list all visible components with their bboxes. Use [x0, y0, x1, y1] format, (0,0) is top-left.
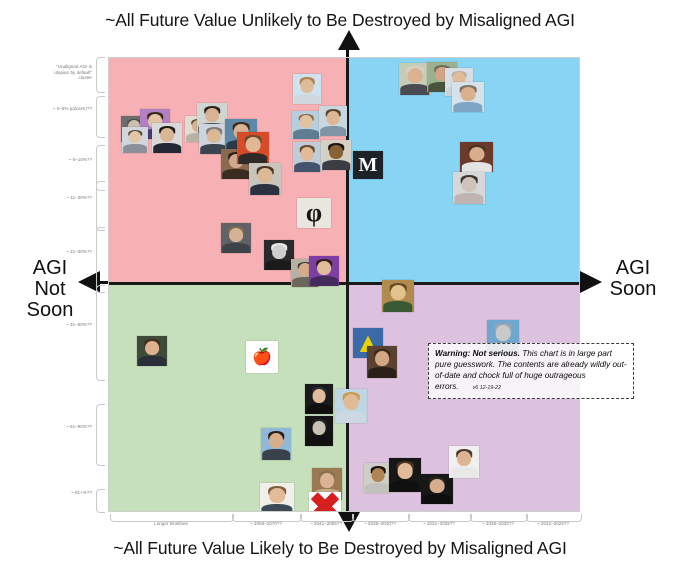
portrait-shoulders	[422, 494, 451, 504]
portrait-face	[207, 129, 221, 143]
data-point-portrait	[261, 428, 291, 460]
x-axis-tick-label: ~ 2022–2025??	[526, 521, 580, 527]
data-point-portrait	[221, 223, 251, 253]
y-axis-brace	[96, 489, 105, 513]
data-point-portrait	[293, 74, 321, 104]
axis-label-left-line3: Soon	[6, 300, 94, 321]
portrait-face	[300, 115, 313, 128]
portrait-shoulders	[400, 84, 429, 95]
y-axis-tick-label: ~ 91+%??	[36, 490, 92, 496]
portrait-face	[272, 245, 286, 259]
portrait-face	[129, 131, 141, 143]
portrait-shoulders	[450, 467, 478, 478]
chart-title-bottom: ~All Future Value Likely to Be Destroyed…	[0, 538, 680, 559]
y-axis-tick-label: ~ 11–20%??	[36, 195, 92, 201]
axis-stem-right	[578, 281, 592, 284]
x-axis-tick-label: ~ 2041–2055??	[300, 521, 352, 527]
data-point-portrait	[249, 163, 281, 195]
portrait-shoulders	[454, 193, 483, 204]
y-axis-tick-label: ~ 31–60%??	[36, 322, 92, 328]
plot-area: φM🍎✖▲✦	[108, 57, 580, 512]
axis-arrow-up-icon	[338, 30, 360, 50]
portrait-face	[269, 488, 285, 503]
data-point-portrait	[382, 280, 414, 312]
warning-bold-lead: Warning: Not serious.	[435, 349, 520, 358]
portrait-shoulders	[336, 411, 365, 423]
portrait-face	[375, 351, 389, 366]
portrait-face	[496, 325, 511, 341]
portrait-shoulders	[138, 356, 166, 366]
data-point-portrait	[292, 111, 320, 139]
y-axis-brace	[96, 227, 105, 293]
portrait-shoulders	[322, 160, 350, 170]
chart-title-top: ~All Future Value Unlikely to Be Destroy…	[0, 10, 680, 31]
portrait-face	[246, 137, 261, 152]
portrait-shoulders	[306, 436, 332, 446]
data-point-portrait	[305, 416, 333, 446]
data-point-portrait	[305, 384, 333, 414]
portrait-shoulders	[294, 162, 320, 172]
data-point-portrait	[460, 142, 493, 172]
portrait-face	[258, 168, 273, 183]
data-point-portrait	[152, 123, 182, 153]
data-point-portrait	[449, 446, 479, 478]
data-point-glyph-xmark: ✖	[309, 492, 341, 512]
y-axis-tick-label: ~ 21–30%??	[36, 249, 92, 255]
data-point-glyph-apple: 🍎	[246, 341, 278, 373]
data-point-portrait	[335, 389, 367, 423]
y-axis-brace	[96, 96, 105, 138]
chart-canvas: ~All Future Value Unlikely to Be Destroy…	[0, 0, 680, 568]
warning-disclaimer-box: Warning: Not serious. This chart is in l…	[428, 343, 634, 399]
portrait-shoulders	[461, 162, 491, 172]
portrait-face	[317, 261, 331, 275]
y-axis-tick-label: ~ 6–10%??	[36, 157, 92, 163]
axis-label-right-line2: Soon	[590, 279, 676, 300]
portrait-face	[205, 108, 219, 122]
x-axis-tick-label: ~ 2026–2030??	[470, 521, 526, 527]
data-point-portrait	[367, 346, 397, 378]
portrait-face	[229, 228, 243, 242]
y-axis-brace	[96, 181, 105, 231]
portrait-shoulders	[306, 404, 332, 414]
portrait-face	[398, 463, 413, 479]
portrait-face	[329, 145, 343, 159]
warning-version-stamp: v6 12-19-22	[473, 385, 501, 391]
portrait-face	[461, 87, 476, 101]
data-point-portrait	[389, 458, 421, 492]
portrait-face	[469, 147, 484, 161]
portrait-face	[160, 128, 174, 142]
portrait-face	[269, 433, 283, 448]
horizontal-axis-line	[109, 282, 580, 285]
portrait-shoulders	[453, 102, 482, 112]
data-point-portrait	[321, 140, 351, 170]
portrait-shoulders	[365, 483, 391, 493]
portrait-face	[408, 68, 423, 83]
portrait-face	[301, 147, 314, 161]
data-point-portrait	[293, 142, 321, 172]
x-axis-tick-label: ~ 2058–2070??	[232, 521, 300, 527]
y-axis-tick-label: ~ 61–90%??	[36, 424, 92, 430]
portrait-shoulders	[320, 126, 346, 136]
portrait-face	[391, 285, 406, 300]
data-point-portrait	[421, 474, 453, 504]
portrait-shoulders	[368, 367, 396, 378]
data-point-portrait	[264, 240, 294, 270]
data-point-portrait	[452, 82, 484, 112]
portrait-shoulders	[261, 504, 292, 512]
portrait-shoulders	[222, 169, 250, 179]
data-point-portrait	[260, 483, 294, 512]
portrait-face	[462, 177, 477, 192]
portrait-face	[320, 473, 334, 488]
portrait-shoulders	[222, 243, 250, 253]
data-point-portrait	[237, 132, 269, 164]
portrait-shoulders	[390, 480, 419, 492]
axis-label-agi-soon: AGI Soon	[590, 258, 676, 300]
portrait-face	[430, 479, 445, 493]
portrait-face	[313, 421, 326, 435]
y-axis-brace	[96, 57, 105, 93]
axis-label-right-line1: AGI	[590, 258, 676, 279]
portrait-shoulders	[383, 301, 412, 312]
data-point-portrait	[309, 256, 339, 286]
portrait-shoulders	[262, 449, 290, 460]
x-axis-tick-label: Longer timelines	[110, 521, 232, 527]
data-point-portrait	[364, 463, 392, 493]
y-axis-tick-label: ~ 0–5% p(doom)??	[36, 106, 92, 112]
x-axis-tick-label: ~ 2031–2035??	[408, 521, 470, 527]
data-point-glyph-M: M	[353, 151, 383, 179]
portrait-shoulders	[310, 276, 338, 286]
portrait-face	[313, 389, 326, 403]
data-point-glyph-phi: φ	[297, 198, 331, 228]
x-axis-tick-label: ~ 2036–2040??	[352, 521, 408, 527]
portrait-face	[301, 79, 314, 93]
portrait-face	[327, 111, 340, 125]
y-axis-tick-label: "Unaligned AGI isutopian by default"clus…	[36, 64, 92, 81]
portrait-shoulders	[293, 129, 319, 139]
data-point-portrait	[122, 127, 148, 153]
data-point-portrait	[137, 336, 167, 366]
portrait-shoulders	[294, 94, 320, 104]
portrait-face	[372, 468, 385, 482]
portrait-face	[457, 451, 471, 466]
y-axis-brace	[96, 285, 105, 381]
data-point-portrait	[319, 106, 347, 136]
y-axis-brace	[96, 404, 105, 466]
portrait-face	[145, 341, 159, 355]
portrait-face	[344, 394, 359, 410]
data-point-portrait	[453, 172, 485, 204]
portrait-shoulders	[153, 143, 181, 153]
portrait-shoulders	[123, 144, 147, 153]
portrait-shoulders	[265, 260, 293, 270]
portrait-shoulders	[250, 184, 279, 195]
